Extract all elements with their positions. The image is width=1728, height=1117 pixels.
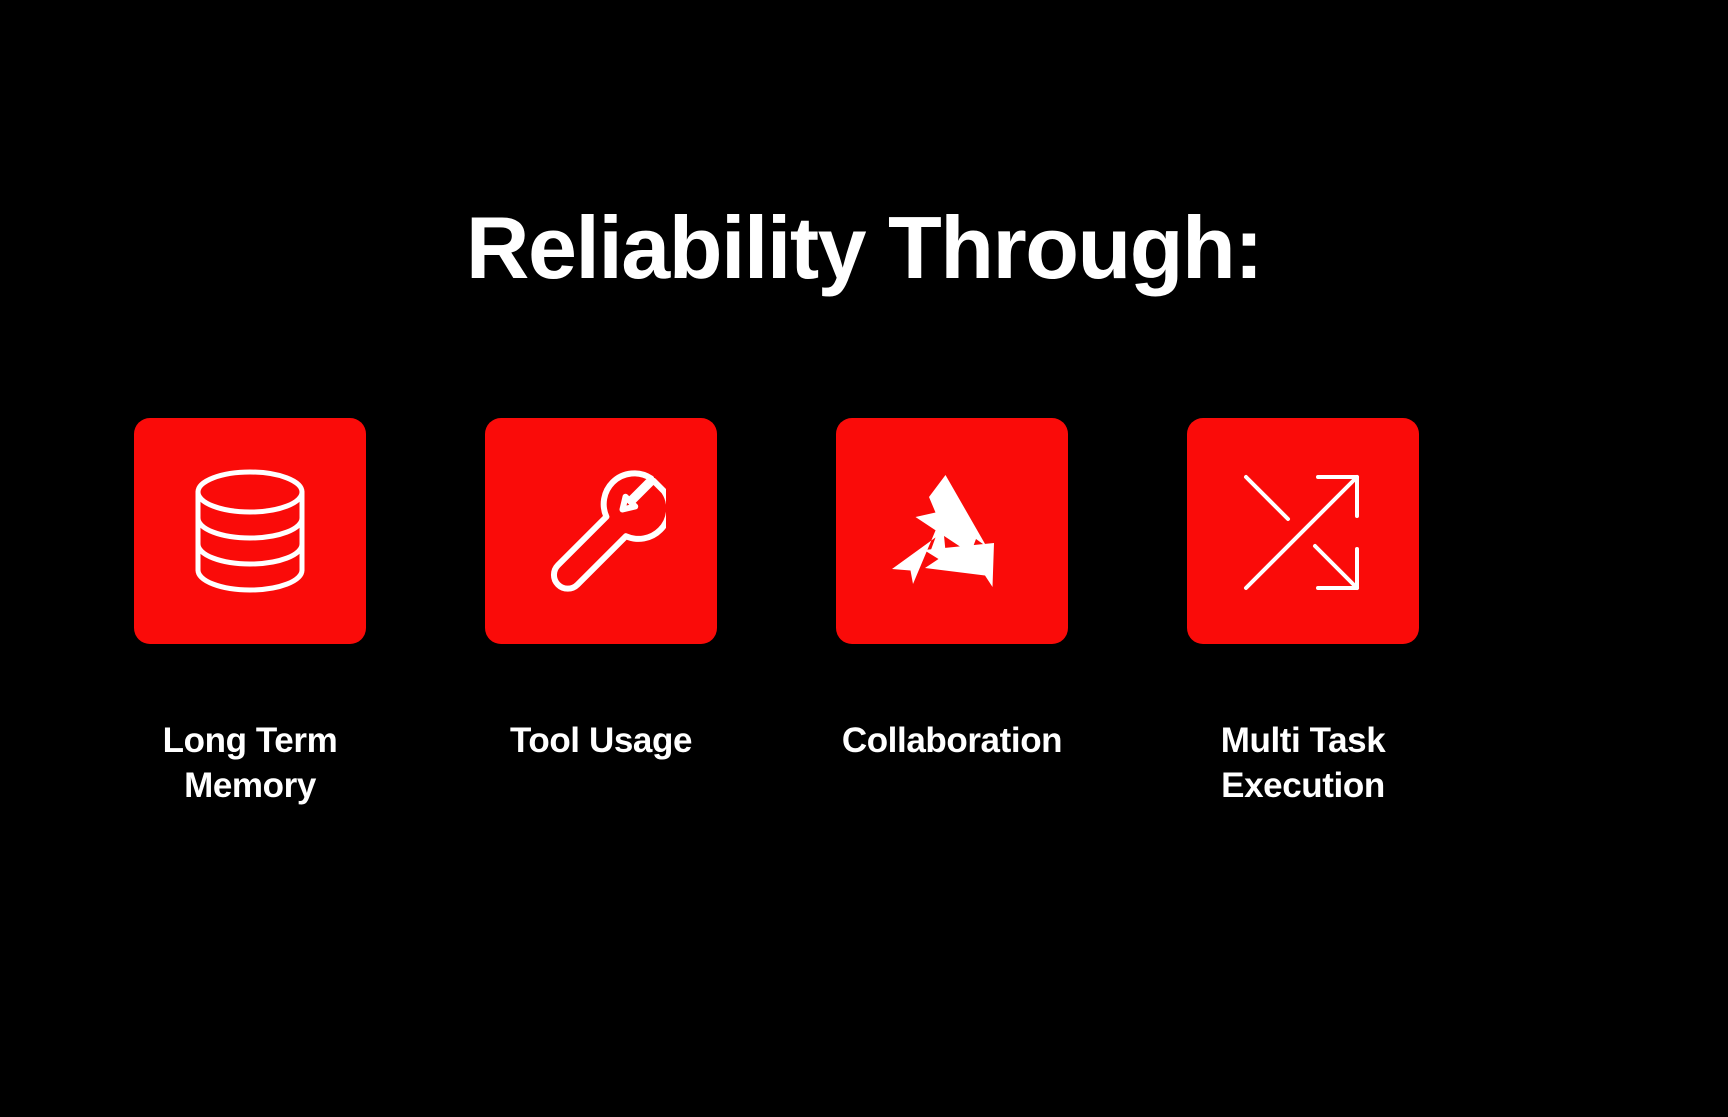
feature-card-label: Multi Task Execution bbox=[1221, 718, 1386, 808]
feature-card-long-term-memory[interactable]: Long Term Memory bbox=[134, 418, 366, 808]
icon-tile-tool-usage[interactable] bbox=[485, 418, 717, 644]
icon-tile-long-term-memory[interactable] bbox=[134, 418, 366, 644]
database-icon bbox=[192, 469, 308, 593]
feature-card-tool-usage[interactable]: Tool Usage bbox=[485, 418, 717, 763]
icon-tile-multi-task-execution[interactable] bbox=[1187, 418, 1419, 644]
feature-card-row: Long Term Memory Tool Usage bbox=[134, 418, 1594, 878]
shuffle-arrows-icon bbox=[1240, 468, 1366, 594]
icon-tile-collaboration[interactable] bbox=[836, 418, 1068, 644]
feature-card-label: Collaboration bbox=[842, 718, 1062, 763]
slide-root: Reliability Through: Long Term Memory bbox=[0, 0, 1728, 1117]
feature-card-multi-task-execution[interactable]: Multi Task Execution bbox=[1187, 418, 1419, 808]
wrench-icon bbox=[536, 466, 666, 596]
feature-card-collaboration[interactable]: Collaboration bbox=[836, 418, 1068, 763]
page-title: Reliability Through: bbox=[0, 196, 1728, 300]
feature-card-label: Tool Usage bbox=[510, 718, 692, 763]
feature-card-label: Long Term Memory bbox=[163, 718, 338, 808]
recycle-arrows-icon bbox=[890, 473, 1014, 589]
